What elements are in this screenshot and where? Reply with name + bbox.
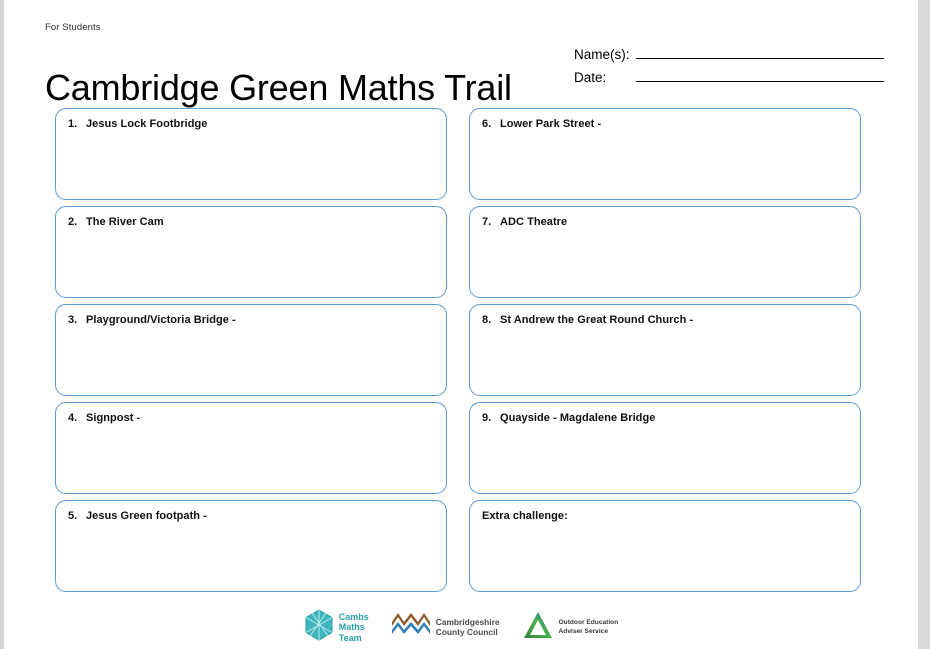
footer-logos: Cambs Maths Team Cambridgeshire County C… xyxy=(4,609,918,646)
trail-box[interactable]: 1. Jesus Lock Footbridge xyxy=(55,108,447,200)
date-write-in-line[interactable] xyxy=(636,69,884,82)
trail-box[interactable]: 4. Signpost - xyxy=(55,402,447,494)
logo-cambridgeshire-county-council: Cambridgeshire County Council xyxy=(391,611,500,644)
trail-box-label: ADC Theatre xyxy=(500,216,567,228)
logo-text-cambs-maths-team: Cambs Maths Team xyxy=(339,612,369,642)
trail-box-heading: 9. Quayside - Magdalene Bridge xyxy=(482,412,848,424)
logo-line-1: Cambs xyxy=(339,612,369,622)
trail-box[interactable]: 6. Lower Park Street - xyxy=(469,108,861,200)
logo-line-2: Adviser Service xyxy=(559,628,619,637)
trail-box-heading: 2. The River Cam xyxy=(68,216,434,228)
trail-box-heading: 7. ADC Theatre xyxy=(482,216,848,228)
trail-box-heading: 1. Jesus Lock Footbridge xyxy=(68,118,434,130)
extra-challenge-box[interactable]: Extra challenge: xyxy=(469,500,861,592)
trail-box-heading: 5. Jesus Green footpath - xyxy=(68,510,434,522)
chevron-waves-icon xyxy=(391,611,431,644)
logo-line-2: County Council xyxy=(436,628,500,638)
trail-box[interactable]: 8. St Andrew the Great Round Church - xyxy=(469,304,861,396)
trail-box-heading: Extra challenge: xyxy=(482,510,848,522)
trail-box-number: 7. xyxy=(482,216,500,228)
trail-box-number: 4. xyxy=(68,412,86,424)
name-date-block: Name(s): Date: xyxy=(574,46,884,92)
name-label: Name(s): xyxy=(574,47,636,62)
date-field-row: Date: xyxy=(574,69,884,85)
trail-box-heading: 6. Lower Park Street - xyxy=(482,118,848,130)
trail-column-right: 6. Lower Park Street - 7. ADC Theatre 8.… xyxy=(469,108,861,598)
trail-box-label: St Andrew the Great Round Church - xyxy=(500,314,693,326)
hexagon-icon xyxy=(304,609,334,646)
page-scrollbar-track[interactable] xyxy=(917,0,930,649)
logo-text-cambridgeshire-county-council: Cambridgeshire County Council xyxy=(436,618,500,638)
triangle-icon xyxy=(522,610,554,645)
extra-challenge-label: Extra challenge: xyxy=(482,510,568,522)
trail-box-label: Quayside - Magdalene Bridge xyxy=(500,412,655,424)
trail-box[interactable]: 5. Jesus Green footpath - xyxy=(55,500,447,592)
trail-box-number: 6. xyxy=(482,118,500,130)
trail-box-label: Playground/Victoria Bridge - xyxy=(86,314,236,326)
logo-text-outdoor-education-adviser-service: Outdoor Education Adviser Service xyxy=(559,619,619,636)
trail-box[interactable]: 9. Quayside - Magdalene Bridge xyxy=(469,402,861,494)
trail-box-heading: 3. Playground/Victoria Bridge - xyxy=(68,314,434,326)
trail-box-label: The River Cam xyxy=(86,216,164,228)
logo-line-1: Outdoor Education xyxy=(559,619,619,628)
trail-box-label: Signpost - xyxy=(86,412,140,424)
logo-line-2: Maths xyxy=(339,622,369,632)
logo-cambs-maths-team: Cambs Maths Team xyxy=(304,609,369,646)
trail-box-label: Jesus Lock Footbridge xyxy=(86,118,207,130)
trail-box-heading: 4. Signpost - xyxy=(68,412,434,424)
page-title: Cambridge Green Maths Trail xyxy=(45,68,512,108)
trail-box-number: 5. xyxy=(68,510,86,522)
trail-box-heading: 8. St Andrew the Great Round Church - xyxy=(482,314,848,326)
eyebrow-label: For Students xyxy=(45,22,101,33)
name-write-in-line[interactable] xyxy=(636,46,884,59)
trail-box-label: Lower Park Street - xyxy=(500,118,601,130)
trail-box-number: 2. xyxy=(68,216,86,228)
name-field-row: Name(s): xyxy=(574,46,884,62)
trail-column-left: 1. Jesus Lock Footbridge 2. The River Ca… xyxy=(55,108,447,598)
trail-box-number: 8. xyxy=(482,314,500,326)
trail-box-label: Jesus Green footpath - xyxy=(86,510,207,522)
trail-box-number: 3. xyxy=(68,314,86,326)
logo-outdoor-education-adviser-service: Outdoor Education Adviser Service xyxy=(522,610,619,645)
trail-box[interactable]: 2. The River Cam xyxy=(55,206,447,298)
trail-box-number: 9. xyxy=(482,412,500,424)
trail-box[interactable]: 7. ADC Theatre xyxy=(469,206,861,298)
logo-line-3: Team xyxy=(339,633,369,643)
trail-box[interactable]: 3. Playground/Victoria Bridge - xyxy=(55,304,447,396)
worksheet-page: For Students Cambridge Green Maths Trail… xyxy=(4,0,918,649)
trail-box-number: 1. xyxy=(68,118,86,130)
date-label: Date: xyxy=(574,70,626,85)
